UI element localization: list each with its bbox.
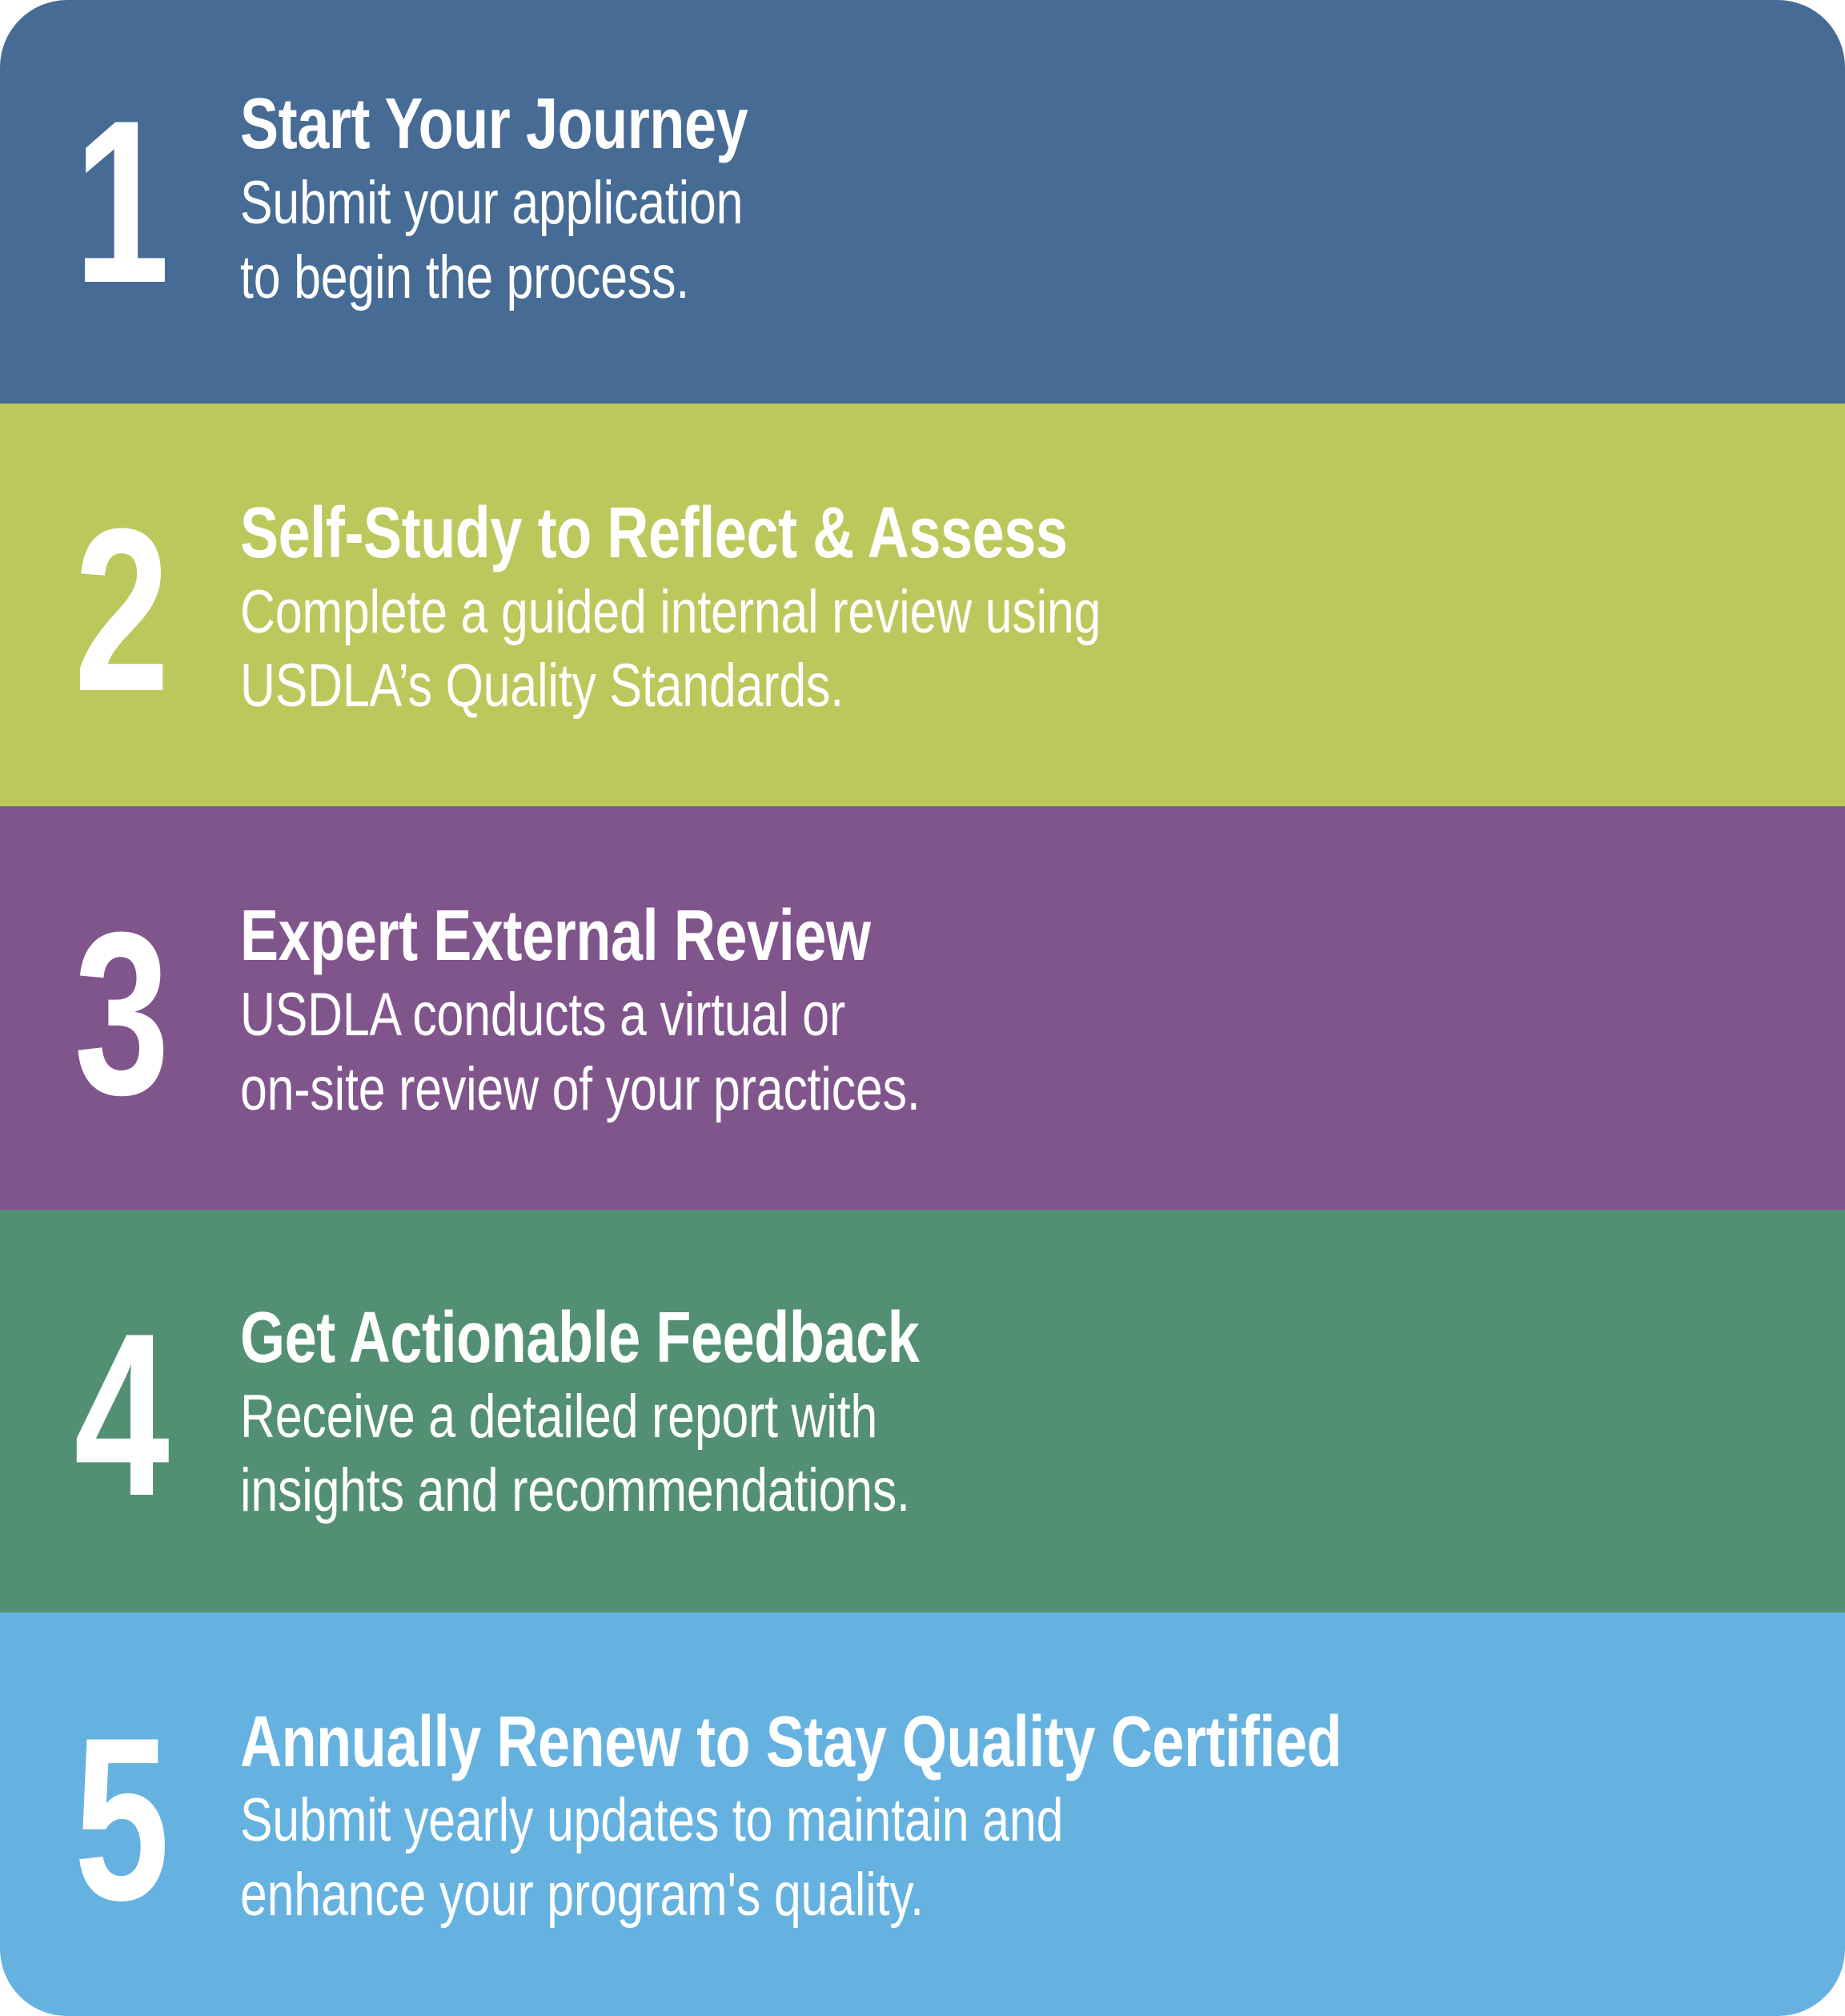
step-title: Self-Study to Reflect & Assess [240,497,1498,571]
step-band-2: 2Self-Study to Reflect & AssessComplete … [0,404,1845,807]
step-description-line: on-site review of your practices. [240,1053,1498,1127]
step-title: Annually Renew to Stay Quality Certified [240,1706,1498,1780]
step-band-3: 3Expert External ReviewUSDLA conducts a … [0,806,1845,1210]
step-body: 3Expert External ReviewUSDLA conducts a … [0,889,1845,1126]
step-number-3: 3 [31,923,209,1104]
step-description-line: Complete a guided internal review using [240,576,1498,650]
step-number-2: 2 [31,520,209,701]
step-body: 5Annually Renew to Stay Quality Certifie… [0,1697,1845,1933]
step-title: Start Your Journey [240,88,1498,162]
step-description-line: USDLA’s Quality Standards. [240,649,1498,724]
step-title: Get Actionable Feedback [240,1302,1498,1375]
step-description-line: to begin the process. [240,241,1498,315]
step-number-5: 5 [31,1729,209,1910]
step-description-line: USDLA conducts a virtual or [240,978,1498,1053]
step-description-line: enhance your program's quality. [240,1858,1498,1933]
step-description: Receive a detailed report withinsights a… [240,1380,1498,1528]
step-body: 4Get Actionable FeedbackReceive a detail… [0,1294,1845,1528]
step-description: USDLA conducts a virtual oron-site revie… [240,978,1498,1126]
step-text-block: Expert External ReviewUSDLA conducts a v… [240,900,1845,1126]
step-description: Submit your applicationto begin the proc… [240,167,1498,315]
step-number-4: 4 [31,1324,209,1505]
step-description-line: Submit your application [240,167,1498,241]
step-text-block: Self-Study to Reflect & AssessComplete a… [240,497,1845,724]
step-text-block: Annually Renew to Stay Quality Certified… [240,1706,1845,1933]
step-text-block: Start Your JourneySubmit your applicatio… [240,88,1845,315]
step-description: Submit yearly updates to maintain andenh… [240,1784,1498,1932]
step-body: 1Start Your JourneySubmit your applicati… [0,88,1845,315]
step-description-line: Submit yearly updates to maintain and [240,1784,1498,1858]
step-band-5: 5Annually Renew to Stay Quality Certifie… [0,1612,1845,2016]
step-description-line: Receive a detailed report with [240,1380,1498,1455]
process-steps-card: 1Start Your JourneySubmit your applicati… [0,0,1845,2016]
step-title: Expert External Review [240,900,1498,974]
step-band-1: 1Start Your JourneySubmit your applicati… [0,0,1845,404]
step-description-line: insights and recommendations. [240,1454,1498,1528]
step-number-1: 1 [31,111,209,292]
step-description: Complete a guided internal review usingU… [240,576,1498,724]
step-band-4: 4Get Actionable FeedbackReceive a detail… [0,1210,1845,1613]
step-text-block: Get Actionable FeedbackReceive a detaile… [240,1302,1845,1528]
step-body: 2Self-Study to Reflect & AssessComplete … [0,486,1845,724]
